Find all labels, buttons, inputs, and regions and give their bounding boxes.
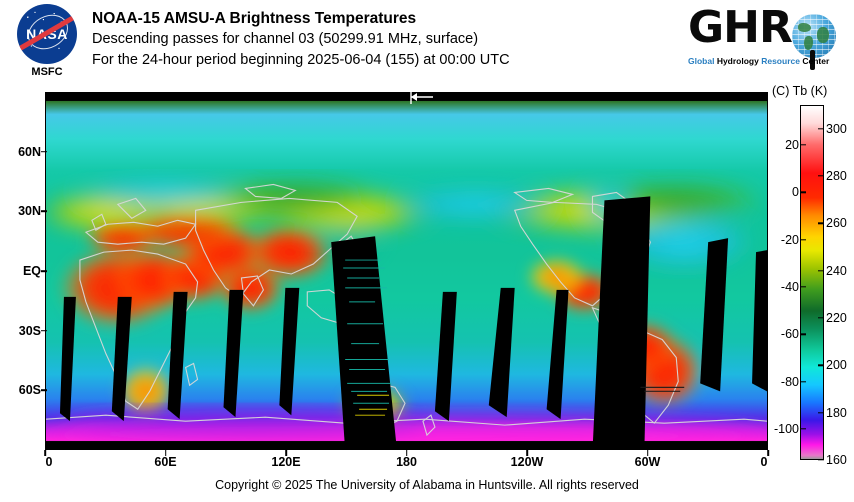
- longitude-tick-mark: [526, 450, 528, 456]
- nasa-center-label: MSFC: [10, 66, 84, 78]
- longitude-tick-mark: [767, 450, 769, 456]
- longitude-tick-mark: [285, 450, 287, 456]
- latitude-tick-label: 60N: [18, 145, 41, 159]
- colorbar-celsius-label: -40: [781, 280, 799, 294]
- colorbar-celsius-label: -20: [781, 233, 799, 247]
- colorbar-kelvin-tick: [818, 412, 824, 413]
- longitude-tick-mark: [165, 450, 167, 456]
- latitude-tick-mark: [41, 151, 47, 153]
- colorbar-kelvin-label: 240: [826, 264, 847, 278]
- map-canvas: [46, 93, 767, 449]
- ghrc-sub-resource: Resource: [761, 56, 802, 66]
- nasa-logo: NASA MSFC: [10, 4, 84, 84]
- colorbar-celsius-tick: [800, 144, 806, 145]
- page-title: NOAA-15 AMSU-A Brightness Temperatures: [92, 8, 652, 29]
- colorbar-kelvin-tick: [818, 317, 824, 318]
- longitude-tick-label: 60E: [154, 455, 176, 469]
- colorbar-kelvin-label: 300: [826, 122, 847, 136]
- latitude-tick-marks: [41, 92, 48, 450]
- latitude-tick-mark: [41, 390, 47, 392]
- colorbar-kelvin-tick: [818, 365, 824, 366]
- longitude-tick-mark: [44, 450, 46, 456]
- cursor-artifact-icon: [405, 90, 435, 104]
- colorbar-kelvin-tick: [818, 459, 824, 460]
- brightness-temperature-map[interactable]: [45, 92, 768, 450]
- longitude-tick-label: 60W: [635, 455, 661, 469]
- colorbar-celsius-tick: [800, 192, 806, 193]
- colorbar-celsius-tick: [800, 239, 806, 240]
- title-block: NOAA-15 AMSU-A Brightness Temperatures D…: [92, 8, 652, 71]
- longitude-tick-label: 120E: [271, 455, 300, 469]
- ghrc-subtitle: Global Hydrology Resource Center: [688, 56, 844, 66]
- copyright-text: Copyright © 2025 The University of Alaba…: [0, 478, 854, 492]
- latitude-tick-label: EQ: [23, 264, 41, 278]
- colorbar-units-label: (C) Tb (K): [772, 84, 854, 98]
- colorbar-kelvin-label: 200: [826, 358, 847, 372]
- globe-land-na: [798, 23, 811, 32]
- colorbar[interactable]: 300280260240220200180160200-20-40-60-80-…: [800, 105, 824, 460]
- longitude-tick-label: 180: [396, 455, 417, 469]
- longitude-axis: 060E120E180120W60W0: [45, 455, 768, 475]
- colorbar-celsius-tick: [800, 428, 806, 429]
- longitude-tick-mark: [406, 450, 408, 456]
- colorbar-celsius-label: -100: [774, 422, 799, 436]
- latitude-tick-label: 30N: [18, 204, 41, 218]
- latitude-tick-mark: [41, 270, 47, 272]
- longitude-tick-label: 120W: [511, 455, 544, 469]
- subtitle-period: For the 24-hour period beginning 2025-06…: [92, 50, 652, 71]
- colorbar-celsius-label: -80: [781, 375, 799, 389]
- colorbar-celsius-tick: [800, 381, 806, 382]
- colorbar-kelvin-label: 260: [826, 216, 847, 230]
- ghrc-logo: GHR Global Hydrology Resource Center: [688, 6, 844, 80]
- header: NASA MSFC NOAA-15 AMSU-A Brightness Temp…: [0, 0, 854, 92]
- longitude-tick-label: 0: [761, 455, 768, 469]
- colorbar-kelvin-label: 280: [826, 169, 847, 183]
- colorbar-celsius-tick: [800, 286, 806, 287]
- subtitle-channel: Descending passes for channel 03 (50299.…: [92, 29, 652, 50]
- ghrc-sub-hydrology: Hydrology: [717, 56, 761, 66]
- latitude-tick-label: 30S: [19, 324, 41, 338]
- colorbar-celsius-label: 0: [792, 185, 799, 199]
- longitude-tick-label: 0: [46, 455, 53, 469]
- nasa-meatball-icon: NASA: [17, 4, 77, 64]
- longitude-tick-mark: [647, 450, 649, 456]
- ghrc-sub-center: Center: [802, 56, 829, 66]
- latitude-tick-mark: [41, 330, 47, 332]
- colorbar-kelvin-tick: [818, 128, 824, 129]
- longitude-tick-marks: [45, 450, 768, 457]
- colorbar-gradient: [800, 105, 824, 460]
- ghrc-sub-global: Global: [688, 56, 717, 66]
- colorbar-kelvin-tick: [818, 175, 824, 176]
- latitude-tick-mark: [41, 211, 47, 213]
- colorbar-kelvin-label: 220: [826, 311, 847, 325]
- globe-land-africa: [817, 27, 829, 43]
- ghrc-wordmark: GHR: [688, 6, 792, 50]
- colorbar-kelvin-tick: [818, 223, 824, 224]
- colorbar-celsius-tick: [800, 334, 806, 335]
- latitude-axis: 60N30NEQ30S60S: [0, 92, 41, 450]
- colorbar-kelvin-label: 160: [826, 453, 847, 467]
- latitude-tick-label: 60S: [19, 383, 41, 397]
- colorbar-kelvin-tick: [818, 270, 824, 271]
- colorbar-celsius-label: -60: [781, 327, 799, 341]
- colorbar-kelvin-label: 180: [826, 406, 847, 420]
- colorbar-celsius-label: 20: [785, 138, 799, 152]
